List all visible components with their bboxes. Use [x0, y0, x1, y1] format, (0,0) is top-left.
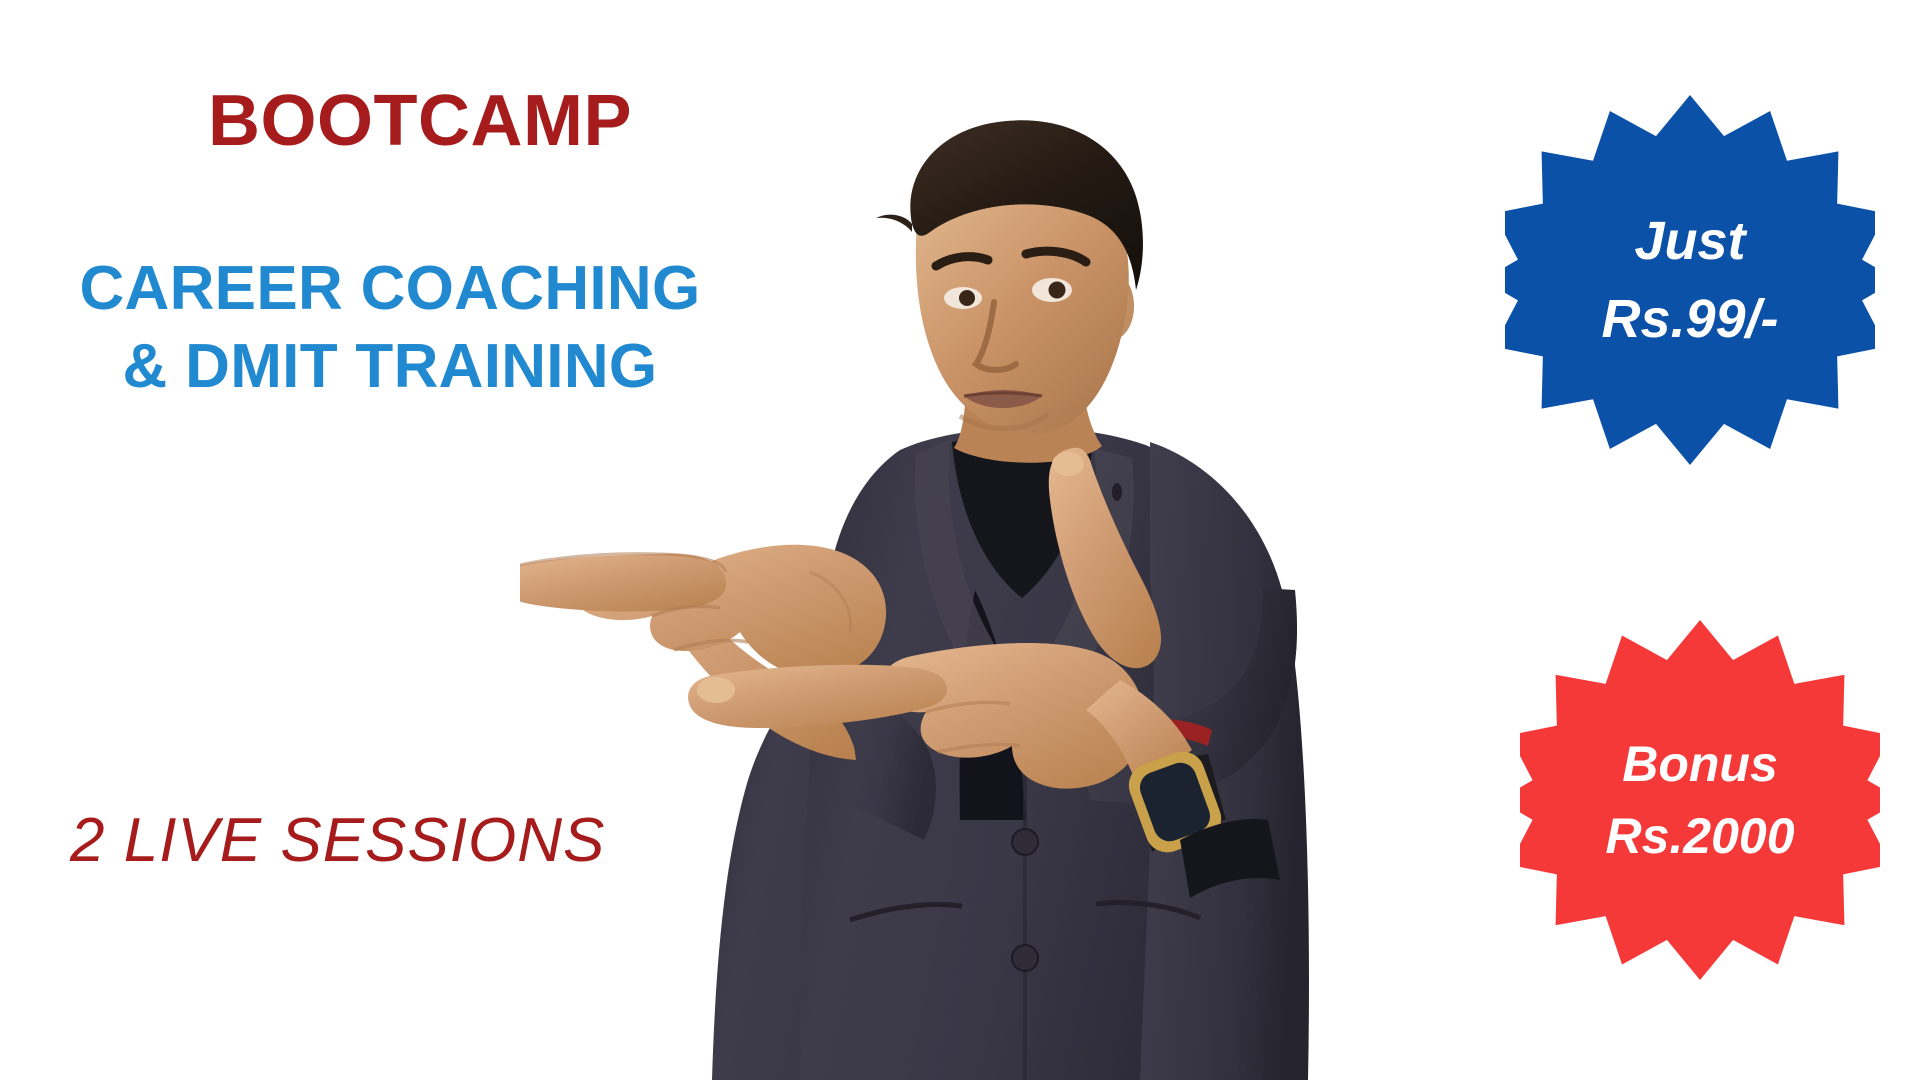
right-index-nail [697, 677, 735, 703]
promo-banner: BOOTCAMP CAREER COACHING & DMIT TRAINING… [0, 0, 1920, 1080]
bonus-badge-line-2: Rs.2000 [1605, 800, 1794, 873]
jacket-button-bottom [1012, 945, 1038, 971]
price-badge[interactable]: Just Rs.99/- [1505, 95, 1875, 465]
headline-eyebrow: BOOTCAMP [160, 84, 680, 160]
eye-left-iris [959, 290, 975, 306]
headline-title: CAREER COACHING & DMIT TRAINING [40, 250, 740, 405]
jacket-button-top [1012, 829, 1038, 855]
hair-wisp [876, 215, 912, 232]
bonus-badge[interactable]: Bonus Rs.2000 [1520, 620, 1880, 980]
bonus-badge-line-1: Bonus [1622, 728, 1778, 801]
left-index-finger [520, 554, 726, 612]
price-badge-line-1: Just [1634, 202, 1745, 280]
headline-subtitle: 2 LIVE SESSIONS [70, 805, 670, 876]
headline-title-line-1: CAREER COACHING [40, 250, 740, 328]
price-badge-line-2: Rs.99/- [1601, 280, 1778, 358]
headline-title-line-2: & DMIT TRAINING [40, 328, 740, 406]
eye-right-iris [1049, 282, 1066, 299]
right-thumb-nail [1052, 452, 1084, 476]
lapel-buttonhole [1112, 483, 1122, 501]
